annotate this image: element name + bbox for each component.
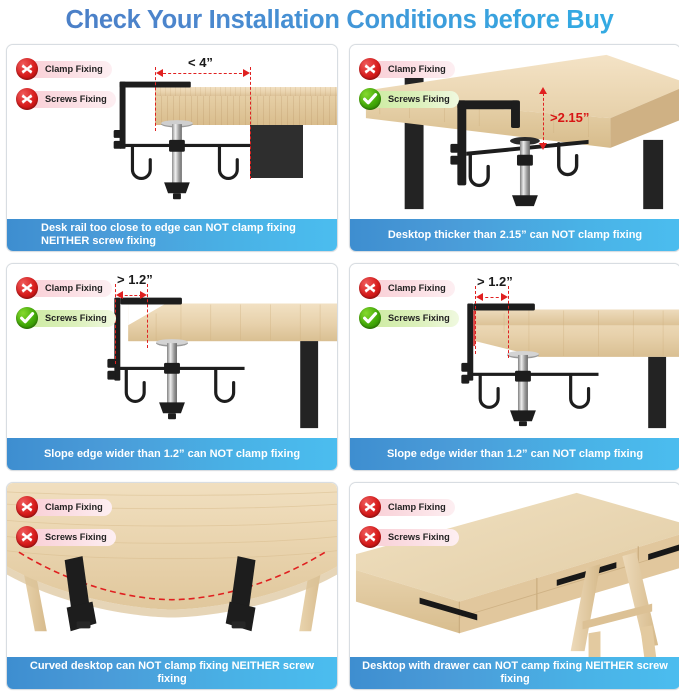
badge-clamp-label: Clamp Fixing bbox=[25, 280, 112, 297]
measure-guide-right bbox=[147, 284, 148, 348]
cross-icon bbox=[359, 58, 381, 80]
badge-screws-fixing: Screws Fixing bbox=[359, 88, 459, 110]
measure-arrow-down bbox=[539, 143, 547, 150]
badge-screws-label: Screws Fixing bbox=[368, 91, 459, 108]
check-icon bbox=[359, 307, 381, 329]
cross-icon bbox=[16, 88, 38, 110]
installation-conditions-infographic: Check Your Installation Conditions befor… bbox=[0, 0, 679, 691]
panel-6-badges: Clamp Fixing Screws Fixing bbox=[359, 496, 459, 556]
panel-3-illustration: > 1.2” Clamp Fixing Screws Fixing bbox=[7, 264, 337, 438]
panel-slope-edge-left: > 1.2” Clamp Fixing Screws Fixing bbox=[6, 263, 338, 471]
badge-clamp-fixing: Clamp Fixing bbox=[16, 277, 116, 299]
badge-screws-label: Screws Fixing bbox=[25, 529, 116, 546]
badge-screws-fixing: Screws Fixing bbox=[16, 526, 116, 548]
badge-screws-label: Screws Fixing bbox=[25, 91, 116, 108]
panel-1-caption: Desk rail too close to edge can NOT clam… bbox=[7, 219, 337, 251]
badge-clamp-fixing: Clamp Fixing bbox=[16, 496, 116, 518]
panel-desk-rail-too-close: < 4” Clamp Fixing Screws Fixing bbox=[6, 44, 338, 252]
panel-2-caption: Desktop thicker than 2.15” can NOT clamp… bbox=[350, 219, 679, 251]
measure-label: > 1.2” bbox=[477, 274, 513, 289]
panel-slope-edge-right: > 1.2” Clamp Fixing Screws Fixing bbox=[349, 263, 679, 471]
panel-1-illustration: < 4” Clamp Fixing Screws Fixing bbox=[7, 45, 337, 219]
badge-clamp-fixing: Clamp Fixing bbox=[359, 496, 459, 518]
badge-clamp-fixing: Clamp Fixing bbox=[359, 277, 459, 299]
measure-arrow-up bbox=[539, 87, 547, 94]
panel-2-illustration: >2.15” Clamp Fixing Screws Fixing bbox=[350, 45, 679, 219]
badge-screws-label: Screws Fixing bbox=[368, 310, 459, 327]
measure-label: < 4” bbox=[188, 55, 213, 70]
measure-line-horizontal bbox=[120, 295, 142, 296]
cross-icon bbox=[359, 277, 381, 299]
cross-icon bbox=[359, 496, 381, 518]
badge-clamp-label: Clamp Fixing bbox=[368, 280, 455, 297]
panel-desktop-too-thick: >2.15” Clamp Fixing Screws Fixing bbox=[349, 44, 679, 252]
panel-grid: < 4” Clamp Fixing Screws Fixing bbox=[6, 44, 673, 688]
panel-6-illustration: Clamp Fixing Screws Fixing bbox=[350, 483, 679, 657]
badge-clamp-fixing: Clamp Fixing bbox=[359, 58, 459, 80]
badge-screws-label: Screws Fixing bbox=[368, 529, 459, 546]
measure-arrow-right bbox=[243, 69, 250, 77]
panel-curved-desktop: Clamp Fixing Screws Fixing Curved deskto… bbox=[6, 482, 338, 690]
panel-4-illustration: > 1.2” Clamp Fixing Screws Fixing bbox=[350, 264, 679, 438]
panel-5-illustration: Clamp Fixing Screws Fixing bbox=[7, 483, 337, 657]
measure-guide-right bbox=[250, 67, 251, 179]
badge-clamp-label: Clamp Fixing bbox=[25, 61, 112, 78]
badge-screws-fixing: Screws Fixing bbox=[359, 526, 459, 548]
cross-icon bbox=[16, 496, 38, 518]
panel-4-badges: Clamp Fixing Screws Fixing bbox=[359, 277, 459, 337]
measure-arrow-right bbox=[501, 293, 508, 301]
badge-screws-label: Screws Fixing bbox=[25, 310, 116, 327]
panel-3-badges: Clamp Fixing Screws Fixing bbox=[16, 277, 116, 337]
panel-4-caption: Slope edge wider than 1.2” can NOT clamp… bbox=[350, 438, 679, 470]
badge-clamp-label: Clamp Fixing bbox=[25, 499, 112, 516]
measure-label: >2.15” bbox=[550, 110, 589, 125]
measure-line-horizontal bbox=[158, 73, 247, 74]
badge-screws-fixing: Screws Fixing bbox=[16, 307, 116, 329]
panel-desktop-with-drawer: Clamp Fixing Screws Fixing Desktop with … bbox=[349, 482, 679, 690]
measure-arrow-left bbox=[116, 291, 123, 299]
measure-label: > 1.2” bbox=[117, 272, 153, 287]
check-icon bbox=[359, 88, 381, 110]
cross-icon bbox=[359, 526, 381, 548]
measure-arrow-left bbox=[156, 69, 163, 77]
measure-arrow-left bbox=[476, 293, 483, 301]
cross-icon bbox=[16, 277, 38, 299]
panel-3-caption: Slope edge wider than 1.2” can NOT clamp… bbox=[7, 438, 337, 470]
panel-2-badges: Clamp Fixing Screws Fixing bbox=[359, 58, 459, 118]
cross-icon bbox=[16, 526, 38, 548]
panel-5-caption: Curved desktop can NOT clamp fixing NEIT… bbox=[7, 657, 337, 689]
panel-6-caption: Desktop with drawer can NOT camp fixing … bbox=[350, 657, 679, 689]
badge-clamp-label: Clamp Fixing bbox=[368, 61, 455, 78]
badge-screws-fixing: Screws Fixing bbox=[16, 88, 116, 110]
panel-5-badges: Clamp Fixing Screws Fixing bbox=[16, 496, 116, 556]
badge-screws-fixing: Screws Fixing bbox=[359, 307, 459, 329]
check-icon bbox=[16, 307, 38, 329]
panel-1-badges: Clamp Fixing Screws Fixing bbox=[16, 58, 116, 118]
page-title: Check Your Installation Conditions befor… bbox=[0, 2, 679, 38]
measure-line-vertical bbox=[543, 93, 544, 145]
measure-arrow-right bbox=[140, 291, 147, 299]
badge-clamp-fixing: Clamp Fixing bbox=[16, 58, 116, 80]
measure-guide-right bbox=[508, 286, 509, 358]
badge-clamp-label: Clamp Fixing bbox=[368, 499, 455, 516]
cross-icon bbox=[16, 58, 38, 80]
